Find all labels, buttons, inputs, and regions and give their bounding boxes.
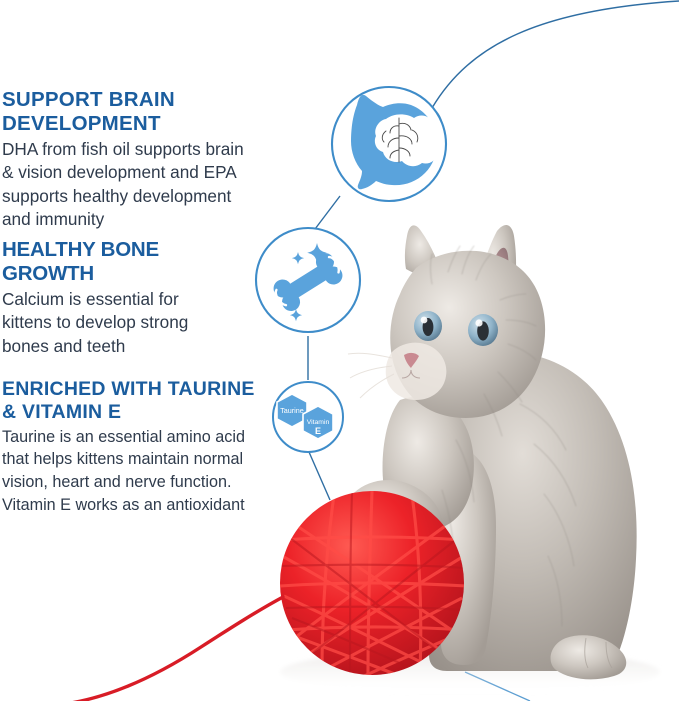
kitten [339,225,637,679]
red-yarn-ball [0,491,466,701]
yarn-strand [0,597,283,701]
product-feature-infographic: Taurine Vitamin E [0,0,679,701]
feature-body-taurine: Taurine is an essential amino acid that … [2,426,258,517]
kitten-whiskers [348,353,394,398]
vitamin-hexagon-label: Vitamin [307,419,330,426]
connector-curve-right [420,108,443,180]
vitamin-hexagon-letter: E [315,426,321,436]
kitten-body [429,351,637,671]
kitten-fur-texture [431,246,577,626]
sparkle-large [307,243,327,263]
connector-curve-top [432,1,679,108]
kitten-eye-right [468,314,498,346]
kitten-muzzle [386,343,447,400]
bone-sparkle-icon [256,228,360,332]
kitten-nose [404,353,419,368]
kitten-ear-left [405,225,444,281]
vitamin-e-hexagon: Vitamin E [303,406,333,439]
kitten-head [390,251,545,418]
sparkle-small-lower [290,309,302,321]
feature-heading-brain: SUPPORT BRAIN DEVELOPMENT [2,88,332,136]
feature-block-bone: HEALTHY BONE GROWTH Calcium is essential… [2,238,254,358]
taurine-hexagon-label: Taurine [280,406,304,415]
taurine-vitamin-hexagons-icon: Taurine Vitamin E [273,382,343,452]
feature-block-taurine: ENRICHED WITH TAURINE & VITAMIN E Taurin… [2,378,258,516]
kitten-mouth [402,370,420,378]
sparkle-small-upper [292,252,304,264]
feature-heading-bone: HEALTHY BONE GROWTH [2,238,254,286]
kitten-chest [383,397,474,531]
connector-taurine-to-photo [309,452,330,500]
feature-body-bone: Calcium is essential for kittens to deve… [2,288,254,358]
kitten-eye-left [414,311,442,341]
kitten-inner-ear-right [485,248,509,308]
connector-line-bottom-right [465,672,530,701]
kitten-paw [339,480,443,550]
feature-block-brain: SUPPORT BRAIN DEVELOPMENT DHA from fish … [2,88,332,232]
kitten-rear-paw [551,635,627,679]
ground-shadow [280,650,660,694]
feature-heading-taurine: ENRICHED WITH TAURINE & VITAMIN E [2,378,258,424]
kitten-foreleg [423,446,496,665]
feature-body-brain: DHA from fish oil supports brain & visio… [2,138,332,232]
taurine-hexagon: Taurine [277,394,307,427]
kitten-ear-right [478,225,516,314]
cat-head-brain-icon [332,87,446,201]
